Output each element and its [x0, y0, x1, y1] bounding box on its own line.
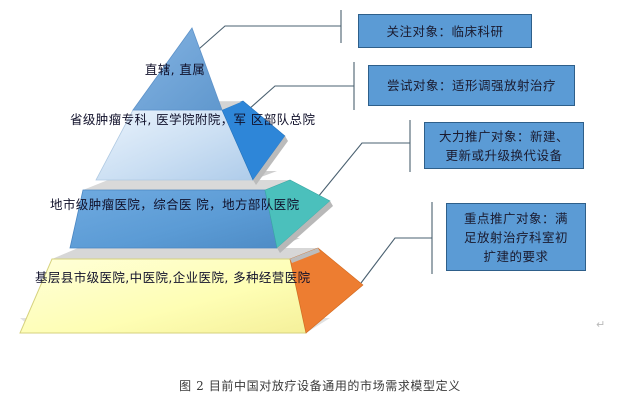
callout-1-line-1: 关注对象：临床科研	[386, 22, 503, 41]
callout-3-line-2: 更新或升级换代设备	[439, 146, 569, 165]
callout-3-line-1: 大力推广对象：新建、	[439, 127, 569, 146]
callout-4-line-1: 重点推广对象：满	[464, 209, 568, 228]
pyramid-tier-2[interactable]	[96, 101, 288, 185]
figure-canvas: 直辖, 直属 省级肿瘤专科, 医学院附院，军 区部队总院 地市级肿瘤医院，综合医…	[0, 0, 640, 411]
callout-box-strong-promotion[interactable]: 大力推广对象：新建、 更新或升级换代设备	[424, 122, 584, 169]
callout-2-line-1: 尝试对象：适形调强放射治疗	[387, 76, 556, 95]
leader-line-4	[361, 238, 432, 283]
callout-box-clinical-research[interactable]: 关注对象：临床科研	[358, 14, 532, 48]
tier-3-face	[70, 190, 277, 248]
leader-line-1	[183, 26, 341, 63]
tier-4-face	[20, 259, 306, 333]
tier-3-bevel	[83, 180, 290, 190]
pyramid-tier-1[interactable]	[133, 28, 241, 110]
pyramid-tier-4[interactable]	[20, 248, 363, 333]
callout-4-line-3: 扩建的要求	[464, 247, 568, 266]
pyramid-tier-3[interactable]	[70, 180, 333, 253]
callout-box-key-promotion[interactable]: 重点推广对象：满 足放射治疗科室初 扩建的要求	[446, 203, 586, 271]
callout-4-line-2: 足放射治疗科室初	[464, 228, 568, 247]
figure-caption: 图 2 目前中国对放疗设备通用的市场需求模型定义	[0, 377, 640, 394]
paragraph-mark: ↵	[596, 318, 605, 331]
callout-box-trial-target[interactable]: 尝试对象：适形调强放射治疗	[368, 65, 575, 106]
